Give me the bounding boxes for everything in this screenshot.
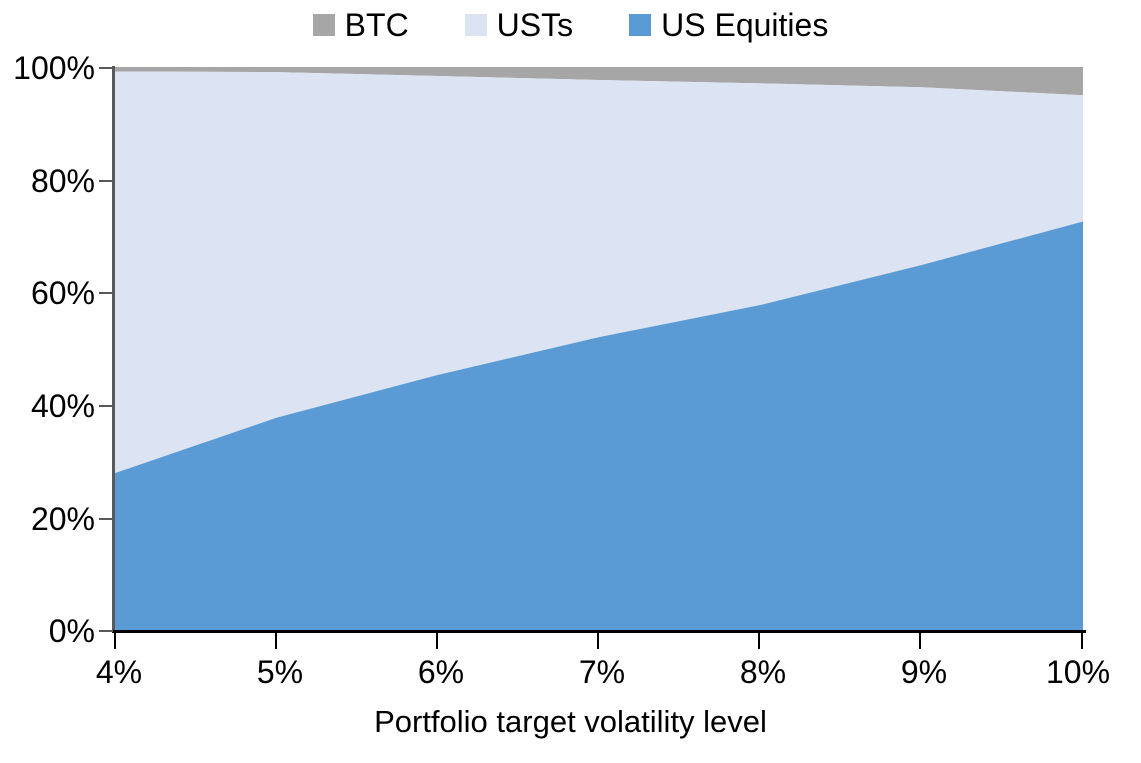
y-axis-label-80: 80% <box>31 165 95 197</box>
stacked-area-chart: BTC USTs US Equities 100% 80% 60% 40% 20… <box>0 0 1141 763</box>
x-axis-label-4: 4% <box>96 655 142 689</box>
legend-item-btc[interactable]: BTC <box>313 9 409 41</box>
area-series-svg <box>115 67 1083 631</box>
legend-swatch-btc-icon <box>313 14 335 36</box>
y-tick-60 <box>99 292 113 294</box>
y-tick-80 <box>99 180 113 182</box>
legend-item-usts[interactable]: USTs <box>465 9 573 41</box>
y-tick-40 <box>99 405 113 407</box>
y-tick-100 <box>99 67 113 69</box>
y-axis-label-60: 60% <box>31 277 95 309</box>
y-tick-0 <box>99 630 113 632</box>
x-axis-title: Portfolio target volatility level <box>0 705 1141 739</box>
x-axis-label-9: 9% <box>901 655 947 689</box>
y-axis-label-0: 0% <box>49 615 95 647</box>
legend-swatch-us-equities-icon <box>629 14 651 36</box>
legend-label-us-equities: US Equities <box>661 9 828 41</box>
legend-swatch-usts-icon <box>465 14 487 36</box>
x-tick-9 <box>919 633 921 649</box>
y-axis-line <box>112 66 115 633</box>
x-tick-6 <box>436 633 438 649</box>
x-axis-line <box>112 630 1086 633</box>
x-tick-4 <box>114 633 116 649</box>
legend-label-usts: USTs <box>497 9 573 41</box>
x-axis-label-10: 10% <box>1046 655 1110 689</box>
x-tick-7 <box>597 633 599 649</box>
y-axis-label-20: 20% <box>31 503 95 535</box>
x-tick-8 <box>758 633 760 649</box>
y-axis-label-100: 100% <box>13 52 95 84</box>
y-axis-label-40: 40% <box>31 390 95 422</box>
legend-label-btc: BTC <box>345 9 409 41</box>
x-axis-label-5: 5% <box>257 655 303 689</box>
x-tick-10 <box>1081 633 1083 649</box>
chart-legend: BTC USTs US Equities <box>0 4 1141 46</box>
y-tick-20 <box>99 518 113 520</box>
x-axis-label-6: 6% <box>418 655 464 689</box>
x-axis-label-8: 8% <box>740 655 786 689</box>
x-tick-5 <box>275 633 277 649</box>
x-axis-label-7: 7% <box>579 655 625 689</box>
plot-area <box>115 67 1083 631</box>
legend-item-us-equities[interactable]: US Equities <box>629 9 828 41</box>
